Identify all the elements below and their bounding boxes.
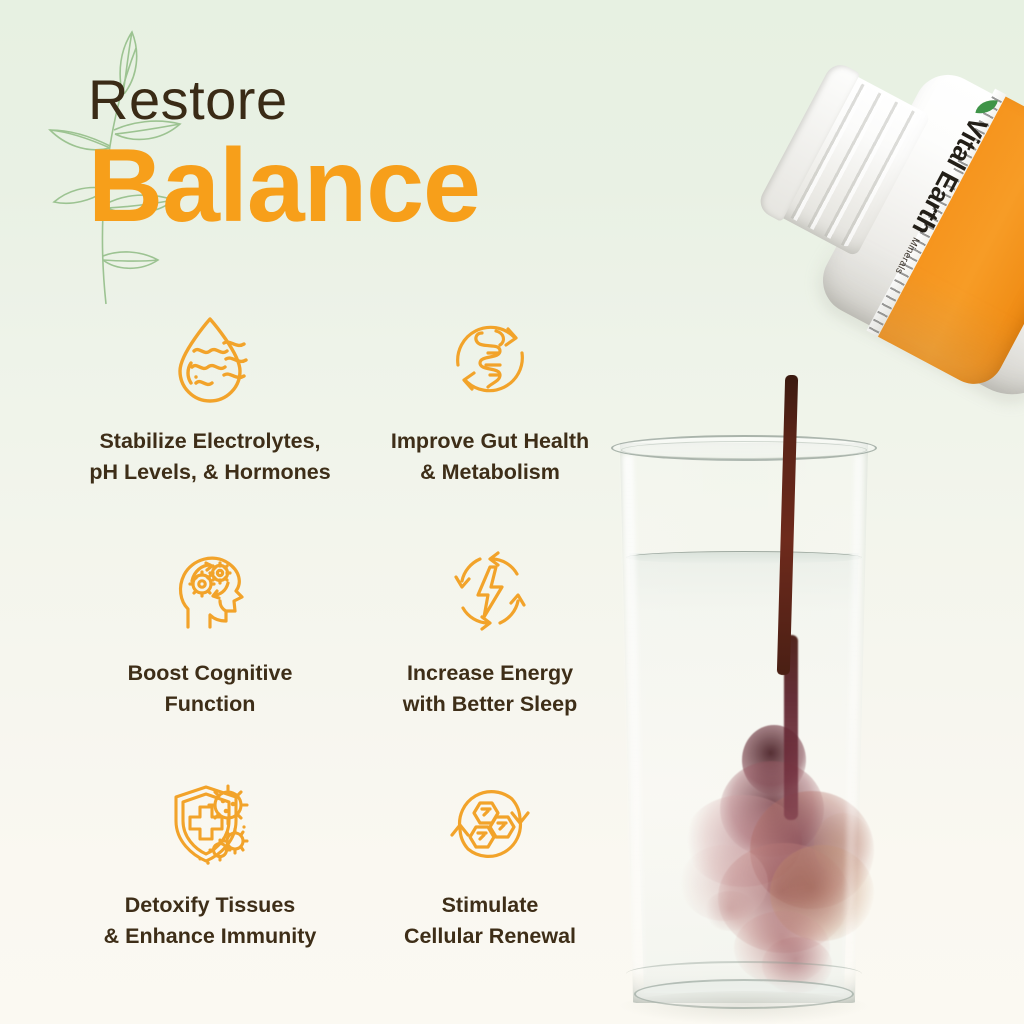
benefit-item-immunity: Detoxify Tissues & Enhance Immunity (60, 764, 360, 996)
promo-canvas: Restore Balance Stabilize Electrolytes, … (0, 0, 1024, 1024)
product-bottle: Vital Earth Minerals (708, 18, 1024, 438)
shield-germ-icon (158, 764, 262, 882)
headline-block: Restore Balance (88, 72, 480, 241)
benefit-item-gut-health: Improve Gut Health & Metabolism (360, 300, 620, 532)
head-gears-icon (158, 532, 262, 650)
leaf-icon (975, 97, 997, 116)
benefit-item-cellular-renewal: Stimulate Cellular Renewal (360, 764, 620, 996)
headline-line-2: Balance (88, 132, 480, 241)
water-glass (612, 425, 876, 1015)
water-surface-line (626, 551, 862, 564)
benefit-label: Stimulate Cellular Renewal (404, 890, 576, 951)
benefit-item-electrolytes: Stabilize Electrolytes, pH Levels, & Hor… (60, 300, 360, 532)
benefit-label: Detoxify Tissues & Enhance Immunity (104, 890, 317, 951)
benefit-item-cognitive: Boost Cognitive Function (60, 532, 360, 764)
lightning-bolt-cycle-icon (438, 532, 542, 650)
gut-intestine-cycle-icon (438, 300, 542, 418)
product-photo: Vital Earth Minerals (594, 0, 1024, 1024)
glass-rim-inner (621, 441, 867, 459)
benefits-grid: Stabilize Electrolytes, pH Levels, & Hor… (60, 300, 620, 996)
benefit-label: Boost Cognitive Function (128, 658, 293, 719)
benefit-label: Improve Gut Health & Metabolism (391, 426, 589, 487)
honeycomb-cells-cycle-icon (438, 764, 542, 882)
benefit-label: Increase Energy with Better Sleep (403, 658, 577, 719)
glass-shadow (618, 991, 870, 1024)
headline-line-1: Restore (88, 72, 480, 128)
benefit-item-energy: Increase Energy with Better Sleep (360, 532, 620, 764)
benefit-label: Stabilize Electrolytes, pH Levels, & Hor… (89, 426, 330, 487)
water-drop-waves-icon (158, 300, 262, 418)
